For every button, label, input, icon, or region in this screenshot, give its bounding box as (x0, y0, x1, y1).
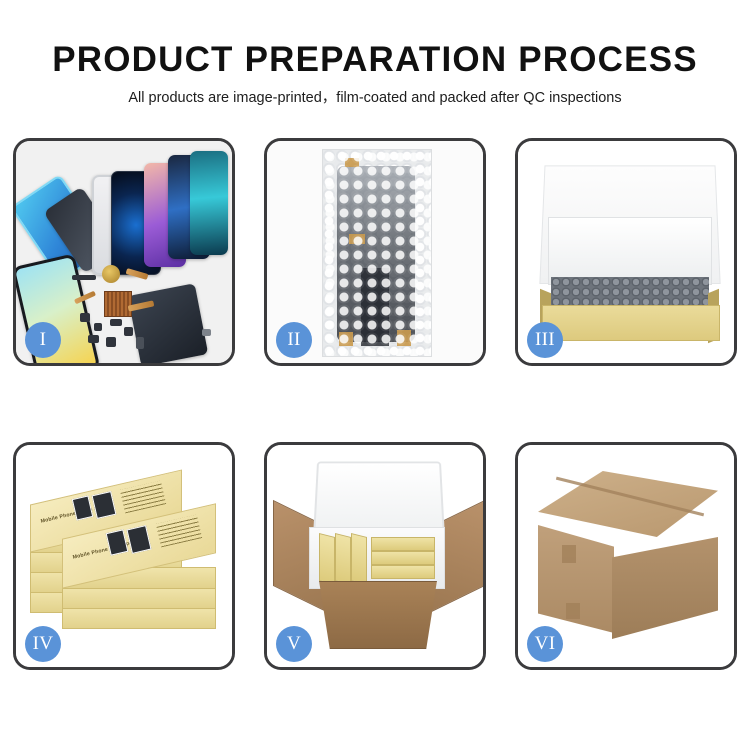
packed-box-1 (319, 533, 335, 585)
step-badge-2: II (276, 322, 312, 358)
part-small-a (80, 313, 90, 322)
stack-box-9 (62, 607, 216, 629)
logic-board-chip (104, 291, 132, 317)
kraft-box-stack: Mobile Phone Spare Parts Mobile Phone Sp… (26, 461, 226, 657)
part-small-g (136, 337, 144, 349)
step-badge-4: IV (25, 626, 61, 662)
part-small-b (94, 323, 102, 331)
process-step-panel-6[interactable]: VI (515, 442, 737, 670)
part-small-d (124, 327, 133, 336)
carton-tape-upper (562, 545, 576, 563)
stack-box-8 (62, 587, 216, 609)
packed-box-4 (371, 537, 435, 551)
step-badge-6: VI (527, 626, 563, 662)
process-step-panel-4[interactable]: Mobile Phone Spare Parts Mobile Phone Sp… (13, 442, 235, 670)
carton-tape-lower (566, 603, 580, 619)
speaker-module (102, 265, 120, 283)
part-small-h (202, 329, 211, 336)
step-badge-5: V (276, 626, 312, 662)
page-subtitle: All products are image-printed，film-coat… (0, 91, 750, 106)
kraft-box-front (542, 305, 720, 341)
page-title: PRODUCT PREPARATION PROCESS (0, 42, 750, 77)
step-badge-3: III (527, 322, 563, 358)
carton-front-face (311, 581, 445, 649)
process-step-panel-1[interactable]: I (13, 138, 235, 366)
packed-box-6 (371, 565, 435, 579)
step-badge-1: I (25, 322, 61, 358)
bubble-wrap-bag (322, 149, 432, 357)
tape-top (345, 158, 359, 167)
packed-box-3 (351, 533, 367, 585)
phone-back-housing (128, 283, 208, 366)
tape-bottom-left (339, 332, 353, 346)
packed-box-2 (335, 533, 351, 585)
part-small-c (110, 319, 122, 326)
screen-flex-tail (361, 268, 389, 346)
teal-gradient-screen (190, 151, 228, 255)
foam-sheet (548, 217, 712, 285)
part-small-f (106, 337, 116, 347)
part-small-e (88, 335, 99, 343)
process-step-panel-2[interactable]: II (264, 138, 486, 366)
carton-right-face (612, 537, 718, 639)
tape-middle (349, 234, 365, 244)
process-step-panel-3[interactable]: III (515, 138, 737, 366)
packed-box-5 (371, 551, 435, 565)
part-connector-strip (72, 275, 96, 280)
process-step-grid: I II (13, 138, 737, 670)
process-step-panel-5[interactable]: V (264, 442, 486, 670)
page-header: PRODUCT PREPARATION PROCESS All products… (0, 0, 750, 106)
tape-bottom-right (397, 330, 411, 346)
